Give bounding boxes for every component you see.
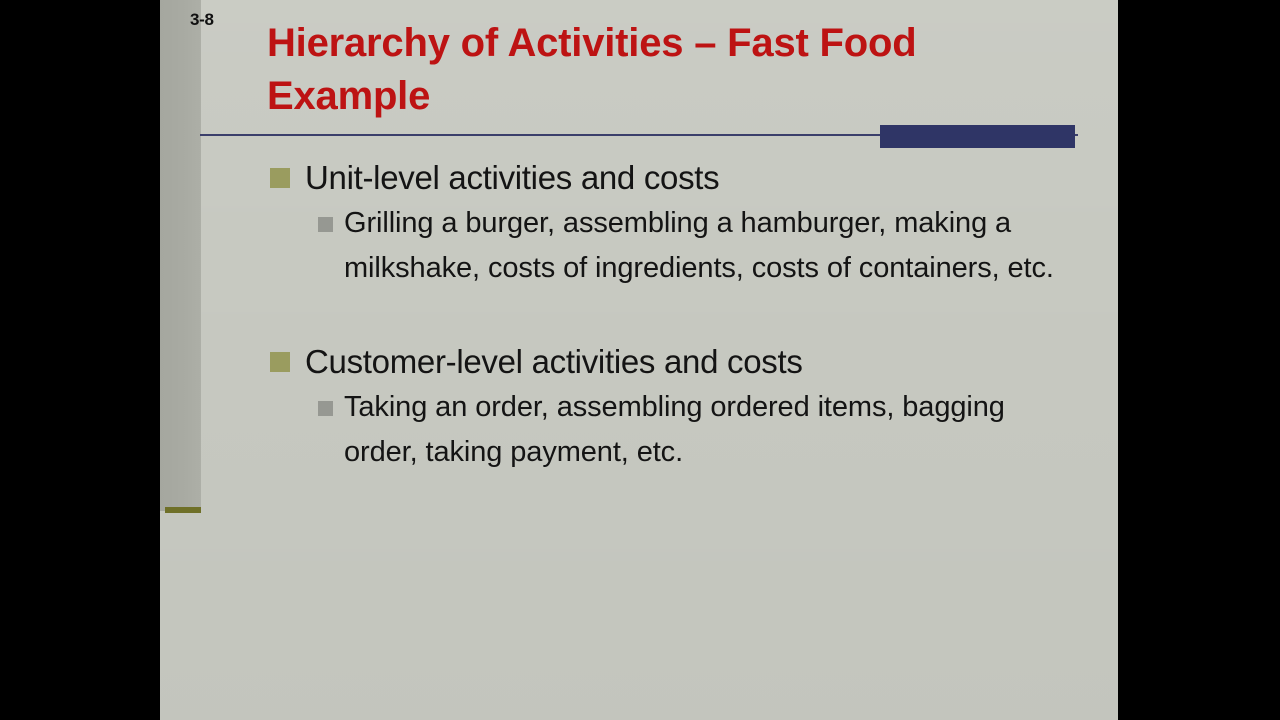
square-subbullet-icon [318, 217, 333, 232]
bullet-level1-text: Unit-level activities and costs [305, 155, 1118, 201]
slide-body: Unit-level activities and costs Grilling… [160, 155, 1118, 475]
bullet-level2-text: Grilling a burger, assembling a hamburge… [344, 201, 1078, 291]
bullet-level1-text: Customer-level activities and costs [305, 339, 1118, 385]
letterbox-bar-left [0, 0, 160, 720]
title-accent-block [880, 125, 1075, 148]
presentation-viewer: 3-8 Hierarchy of Activities – Fast Food … [0, 0, 1280, 720]
slide-title: Hierarchy of Activities – Fast Food Exam… [267, 17, 1067, 123]
square-bullet-icon [270, 352, 290, 372]
body-spacer [160, 291, 1118, 339]
bullet-level2: Grilling a burger, assembling a hamburge… [160, 201, 1118, 291]
bullet-level1: Unit-level activities and costs [160, 155, 1118, 201]
square-bullet-icon [270, 168, 290, 188]
slide-canvas: 3-8 Hierarchy of Activities – Fast Food … [160, 0, 1118, 720]
bullet-level1: Customer-level activities and costs [160, 339, 1118, 385]
slide-number: 3-8 [190, 10, 214, 30]
bullet-level2-text: Taking an order, assembling ordered item… [344, 385, 1078, 475]
letterbox-bar-right [1118, 0, 1280, 720]
bullet-level2: Taking an order, assembling ordered item… [160, 385, 1118, 475]
square-subbullet-icon [318, 401, 333, 416]
left-band-accent-cap [165, 507, 201, 513]
